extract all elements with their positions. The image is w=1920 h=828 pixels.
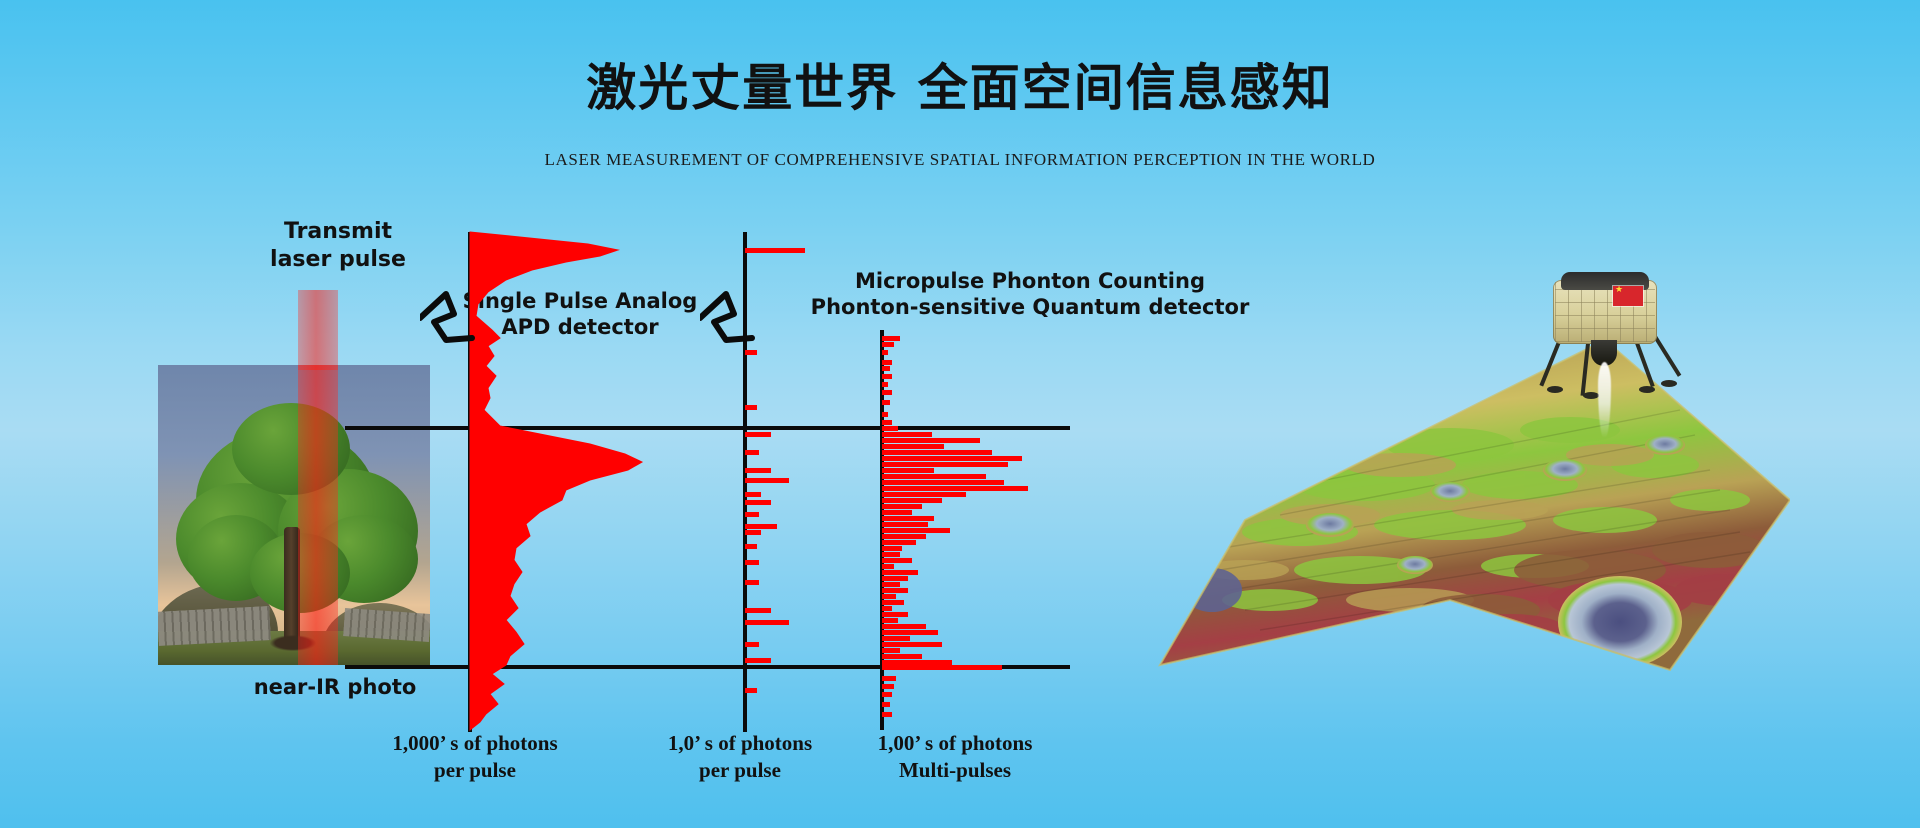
photon-count-bar: [882, 510, 912, 515]
photon-count-bar: [882, 504, 922, 509]
photon-count-bar: [882, 492, 966, 497]
terrain-surface: [1160, 340, 1790, 670]
photon-count-bar: [882, 486, 1028, 491]
photon-count-bar: [882, 456, 1022, 461]
photon-count-bar: [882, 630, 938, 635]
photon-count-bar: [882, 498, 942, 503]
photon-count-bar: [882, 660, 952, 665]
photon-count-bar: [882, 594, 896, 599]
waveform-micropulse-photon-counting: [0, 0, 1100, 800]
photon-count-bar: [882, 516, 934, 521]
photon-count-bar: [882, 712, 892, 717]
photon-count-bar: [882, 366, 890, 371]
crater-small: [1645, 435, 1685, 455]
photon-count-bar: [882, 692, 892, 697]
photon-count-bar: [882, 444, 944, 449]
photon-count-bar: [882, 400, 890, 405]
photon-count-bar: [882, 374, 892, 379]
photon-count-bar: [882, 648, 900, 653]
photon-count-bar: [882, 636, 910, 641]
crater-small: [1430, 482, 1470, 502]
photon-count-bar: [882, 336, 900, 341]
photon-count-bar: [882, 412, 888, 417]
photon-count-bar: [882, 702, 890, 707]
photon-count-bar: [882, 540, 916, 545]
photon-count-bar: [882, 342, 894, 347]
photon-count-bar: [882, 684, 894, 689]
photon-count-bar: [882, 432, 932, 437]
photon-count-bar: [882, 420, 892, 425]
photon-count-bar: [882, 382, 888, 387]
lander-footpad: [1661, 380, 1677, 387]
photon-count-bar: [882, 654, 922, 659]
china-flag-icon: [1613, 286, 1643, 306]
lander-footpad: [1583, 392, 1599, 399]
photon-count-bar: [882, 665, 1002, 670]
photon-count-bar: [882, 528, 950, 533]
photon-count-bar: [882, 534, 926, 539]
poster-canvas: 激光丈量世界 全面空间信息感知 LASER MEASUREMENT OF COM…: [0, 0, 1920, 828]
lidar-terrain-scene: [1150, 270, 1790, 790]
photon-count-bar: [882, 552, 900, 557]
terrain-dem: [1150, 270, 1790, 790]
photon-count-bar: [882, 522, 928, 527]
photon-count-bar: [882, 468, 934, 473]
photon-count-bar: [882, 582, 900, 587]
photon-count-bar: [882, 558, 912, 563]
photon-count-bar: [882, 438, 980, 443]
photon-count-bar: [882, 642, 942, 647]
crater-small: [1397, 556, 1433, 574]
photon-count-bar: [882, 588, 908, 593]
photon-count-bar: [882, 676, 896, 681]
photon-count-bar: [882, 450, 992, 455]
photon-count-bar: [882, 426, 898, 431]
crater-small: [1543, 459, 1587, 481]
lunar-lander: [1535, 270, 1675, 400]
photon-count-bar: [882, 564, 894, 569]
photon-count-bar: [882, 618, 898, 623]
photon-count-bar: [882, 350, 888, 355]
photon-count-bar: [882, 462, 1008, 467]
photon-count-bar: [882, 390, 892, 395]
photon-count-bar: [882, 546, 902, 551]
crater-small: [1306, 513, 1354, 537]
lander-footpad: [1639, 386, 1655, 393]
photon-count-bar: [882, 360, 892, 365]
photon-count-bar: [882, 570, 918, 575]
photon-count-bar: [882, 480, 1004, 485]
photon-count-bar: [882, 576, 908, 581]
photon-count-bar: [882, 606, 892, 611]
photon-count-bar: [882, 612, 908, 617]
photon-count-bar: [882, 474, 986, 479]
photon-count-bar: [882, 600, 904, 605]
lander-footpad: [1547, 386, 1563, 393]
photon-count-bar: [882, 624, 926, 629]
